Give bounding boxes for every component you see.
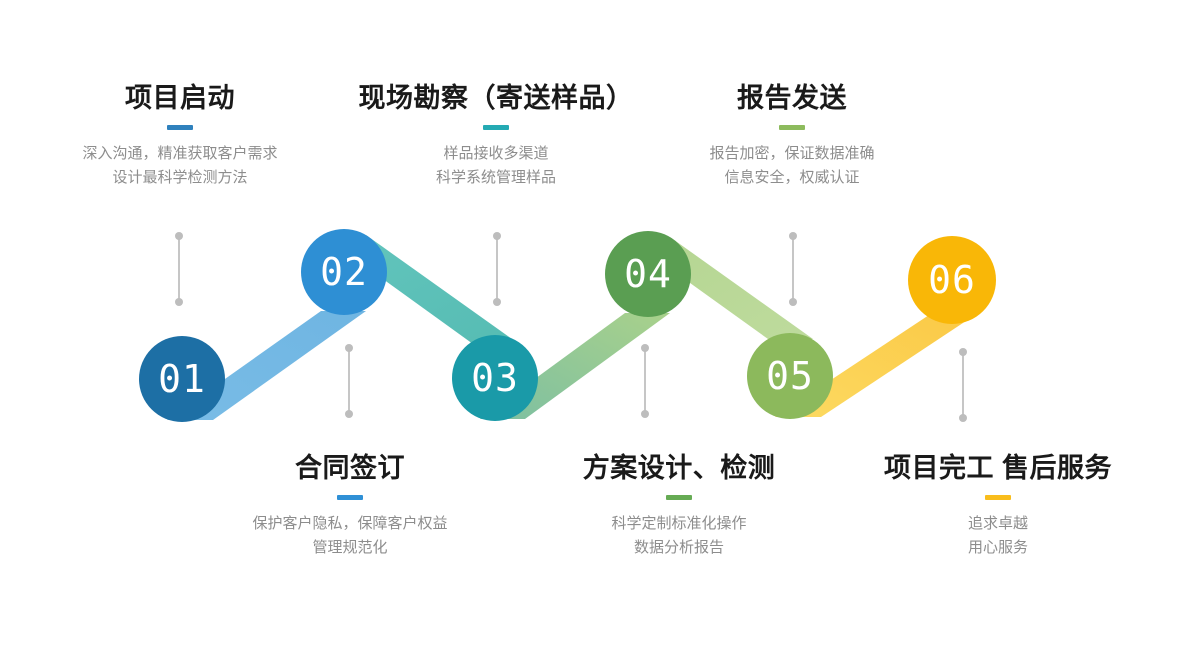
step-number-04: 04 <box>624 252 672 296</box>
step-accent-06 <box>985 495 1011 500</box>
step-label-05: 报告发送 报告加密，保证数据准确 信息安全，权威认证 <box>662 82 922 190</box>
step-desc-01-line1: 深入沟通，精准获取客户需求 <box>30 142 330 166</box>
step-desc-02-line1: 保护客户隐私，保障客户权益 <box>205 512 495 536</box>
step-desc-04-line1: 科学定制标准化操作 <box>534 512 824 536</box>
connector-dot-top <box>789 232 797 240</box>
connector-dot-top <box>175 232 183 240</box>
step-title-06: 项目完工 售后服务 <box>848 452 1148 486</box>
step-accent-02 <box>337 495 363 500</box>
step-title-04: 方案设计、检测 <box>534 452 824 486</box>
step-desc-03-line2: 科学系统管理样品 <box>346 166 646 190</box>
step-desc-02-line2: 管理规范化 <box>205 536 495 560</box>
step-accent-05 <box>779 125 805 130</box>
step-label-03: 现场勘察（寄送样品） 样品接收多渠道 科学系统管理样品 <box>346 82 646 190</box>
connector-line-02 <box>348 348 350 414</box>
step-number-01: 01 <box>158 357 206 401</box>
step-desc-06-line1: 追求卓越 <box>848 512 1148 536</box>
step-title-02: 合同签订 <box>205 452 495 486</box>
step-desc-04-line2: 数据分析报告 <box>534 536 824 560</box>
step-desc-03-line1: 样品接收多渠道 <box>346 142 646 166</box>
connector-line-01 <box>178 236 180 302</box>
connector-line-03 <box>496 236 498 302</box>
connector-dot-bottom <box>641 410 649 418</box>
infographic-canvas: 01 02 03 04 05 06 项目启动 深入沟通，精准获取客户需求 设 <box>0 0 1200 650</box>
step-title-01: 项目启动 <box>30 82 330 116</box>
ribbon-group <box>167 235 975 420</box>
step-number-05: 05 <box>766 354 814 398</box>
connector-dot-bottom <box>493 298 501 306</box>
connector-dot-bottom <box>959 414 967 422</box>
step-circle-group <box>139 229 996 422</box>
step-desc-05-line1: 报告加密，保证数据准确 <box>662 142 922 166</box>
connector-line-04 <box>644 348 646 414</box>
step-accent-03 <box>483 125 509 130</box>
step-number-02: 02 <box>320 250 368 294</box>
connector-dot-top <box>959 348 967 356</box>
step-title-03: 现场勘察（寄送样品） <box>346 82 646 116</box>
connector-dot-bottom <box>175 298 183 306</box>
step-title-05: 报告发送 <box>662 82 922 116</box>
step-desc-05-line2: 信息安全，权威认证 <box>662 166 922 190</box>
connector-dot-bottom <box>789 298 797 306</box>
step-accent-04 <box>666 495 692 500</box>
connector-dot-top <box>493 232 501 240</box>
connector-line-06 <box>962 352 964 418</box>
step-desc-06-line2: 用心服务 <box>848 536 1148 560</box>
connector-dot-top <box>641 344 649 352</box>
step-desc-01-line2: 设计最科学检测方法 <box>30 166 330 190</box>
step-label-06: 项目完工 售后服务 追求卓越 用心服务 <box>848 452 1148 560</box>
step-label-04: 方案设计、检测 科学定制标准化操作 数据分析报告 <box>534 452 824 560</box>
connector-dot-top <box>345 344 353 352</box>
connector-dot-bottom <box>345 410 353 418</box>
step-label-02: 合同签订 保护客户隐私，保障客户权益 管理规范化 <box>205 452 495 560</box>
step-number-03: 03 <box>471 356 519 400</box>
step-number-06: 06 <box>928 258 976 302</box>
step-accent-01 <box>167 125 193 130</box>
connector-line-05 <box>792 236 794 302</box>
step-label-01: 项目启动 深入沟通，精准获取客户需求 设计最科学检测方法 <box>30 82 330 190</box>
